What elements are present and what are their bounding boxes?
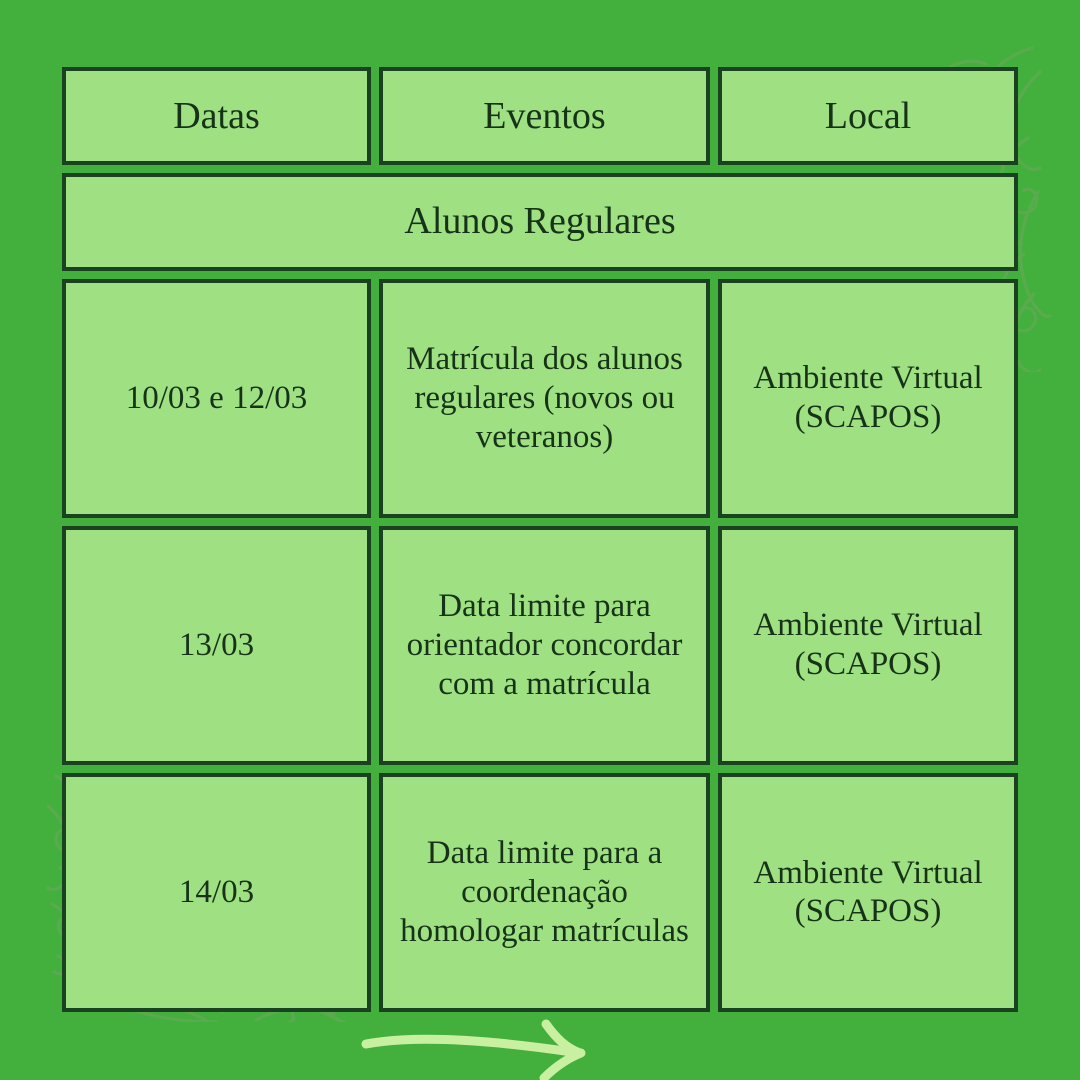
row-date-label: 13/03 bbox=[179, 626, 254, 665]
row-date-cell: 14/03 bbox=[62, 773, 371, 1012]
table-header-row: Datas Eventos Local bbox=[62, 67, 1018, 165]
row-date-cell: 10/03 e 12/03 bbox=[62, 279, 371, 518]
row-event-label: Data limite para a coordenação homologar… bbox=[393, 834, 696, 951]
column-header-eventos: Eventos bbox=[379, 67, 710, 165]
table-row: 10/03 e 12/03 Matrícula dos alunos regul… bbox=[62, 279, 1018, 518]
row-local-cell: Ambiente Virtual (SCAPOS) bbox=[718, 279, 1018, 518]
row-event-label: Data limite para orientador concordar co… bbox=[393, 587, 696, 704]
row-local-cell: Ambiente Virtual (SCAPOS) bbox=[718, 526, 1018, 765]
column-header-datas: Datas bbox=[62, 67, 371, 165]
column-header-datas-label: Datas bbox=[173, 94, 260, 139]
row-local-label: Ambiente Virtual (SCAPOS) bbox=[732, 606, 1004, 684]
row-local-cell: Ambiente Virtual (SCAPOS) bbox=[718, 773, 1018, 1012]
column-header-local-label: Local bbox=[825, 94, 912, 139]
table-row: 14/03 Data limite para a coordenação hom… bbox=[62, 773, 1018, 1012]
row-date-cell: 13/03 bbox=[62, 526, 371, 765]
row-event-cell: Data limite para orientador concordar co… bbox=[379, 526, 710, 765]
schedule-table: Datas Eventos Local Alunos Regulares 10/… bbox=[62, 67, 1018, 1012]
column-header-local: Local bbox=[718, 67, 1018, 165]
row-local-label: Ambiente Virtual (SCAPOS) bbox=[732, 359, 1004, 437]
column-header-eventos-label: Eventos bbox=[483, 94, 605, 139]
section-heading-label: Alunos Regulares bbox=[404, 199, 675, 244]
table-section-row: Alunos Regulares bbox=[62, 173, 1018, 271]
section-heading-cell: Alunos Regulares bbox=[62, 173, 1018, 271]
row-event-label: Matrícula dos alunos regulares (novos ou… bbox=[393, 340, 696, 457]
row-local-label: Ambiente Virtual (SCAPOS) bbox=[732, 854, 1004, 932]
table-row: 13/03 Data limite para orientador concor… bbox=[62, 526, 1018, 765]
row-date-label: 10/03 e 12/03 bbox=[126, 379, 307, 418]
arrow-right-handdrawn-icon bbox=[360, 1022, 600, 1080]
row-date-label: 14/03 bbox=[179, 873, 254, 912]
row-event-cell: Matrícula dos alunos regulares (novos ou… bbox=[379, 279, 710, 518]
row-event-cell: Data limite para a coordenação homologar… bbox=[379, 773, 710, 1012]
